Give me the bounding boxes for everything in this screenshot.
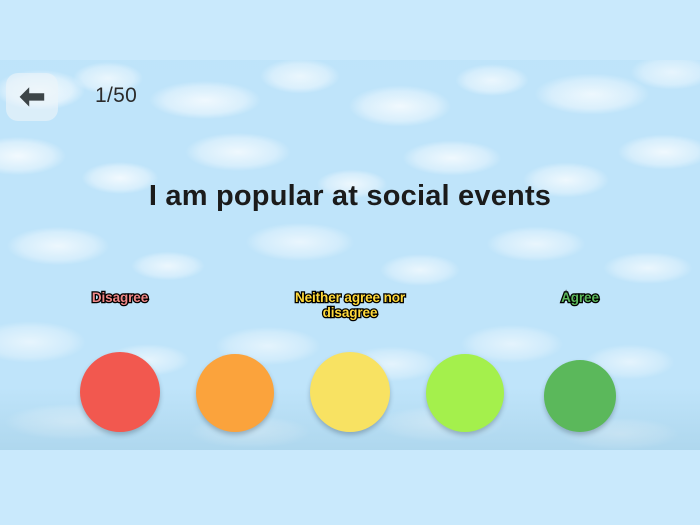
- scale-option-circle[interactable]: [80, 352, 160, 432]
- scale-option-label: Agree: [515, 290, 645, 305]
- scale-option-circle[interactable]: [310, 352, 390, 432]
- scale-option-label: Neither agree nor disagree: [285, 290, 415, 320]
- page-title: I am popular at social events: [0, 180, 700, 213]
- scale-option[interactable]: Agree: [530, 290, 630, 440]
- top-bar: [0, 0, 700, 60]
- scale-option[interactable]: [185, 290, 285, 440]
- scale-option-circle[interactable]: [426, 354, 504, 432]
- scale-option[interactable]: Neither agree nor disagree: [300, 290, 400, 440]
- bottom-band: [0, 450, 700, 525]
- likert-scale: Disagree Neither agree nor disagree Agre…: [70, 290, 630, 440]
- progress-counter: 1/50: [95, 84, 137, 108]
- scale-option[interactable]: [415, 290, 515, 440]
- scale-option[interactable]: Disagree: [70, 290, 170, 440]
- scale-option-label: Disagree: [55, 290, 185, 305]
- back-button[interactable]: [6, 73, 58, 121]
- scale-option-circle[interactable]: [196, 354, 274, 432]
- scale-option-circle[interactable]: [544, 360, 616, 432]
- arrow-left-icon: [17, 84, 47, 110]
